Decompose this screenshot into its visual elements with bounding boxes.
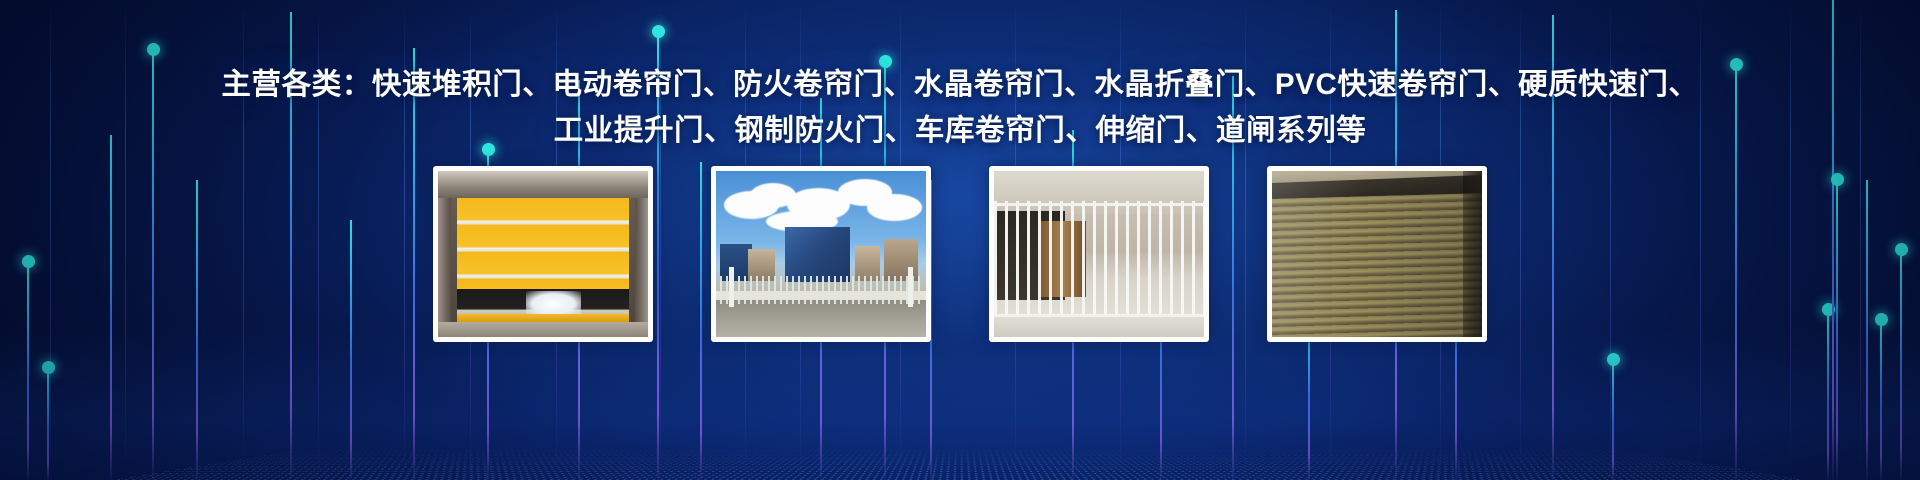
folding-grille-shape [994,201,1204,317]
building-shape [785,227,850,282]
door-lintel-shape [438,171,648,198]
stem-line [47,368,49,480]
grille-top-rail [994,203,1204,206]
stem-line [1612,360,1614,480]
floor-shape [994,314,1204,337]
dotted-mesh-front [0,447,1920,480]
product-photo-4-image [1272,171,1482,337]
door-curtain-shape [457,198,629,289]
gate-post-shape [729,267,734,307]
retractable-gate-shape [720,276,922,304]
headline-line-2: 工业提升门、钢制防火门、车库卷帘门、伸缩门、道闸系列等 [0,108,1920,154]
product-photo-1-image [438,171,648,337]
product-photo-2[interactable] [711,166,931,342]
promo-banner: 主营各类：快速堆积门、电动卷帘门、防火卷帘门、水晶卷帘门、水晶折叠门、PVC快速… [0,0,1920,480]
product-photo-2-image [716,171,926,337]
cloud-shape [867,194,922,221]
stem-line [1880,320,1882,480]
door-bottom-strip [457,314,629,322]
product-photo-row [0,166,1920,342]
grille-bottom-rail [994,314,1204,317]
product-photo-1[interactable] [433,166,653,342]
product-photo-3-image [994,171,1204,337]
mesh-glow [0,330,1920,480]
stem-dot [652,25,665,38]
shutter-sheen [1272,171,1482,337]
stem-dot [147,43,160,56]
product-photo-4[interactable] [1267,166,1487,342]
gate-post-shape [908,267,913,307]
door-floor-shape [438,322,648,337]
product-photo-3[interactable] [989,166,1209,342]
headline-line-1: 主营各类：快速堆积门、电动卷帘门、防火卷帘门、水晶卷帘门、水晶折叠门、PVC快速… [0,62,1920,108]
stem-dot [42,361,55,374]
stem-dot [1607,353,1620,366]
headline: 主营各类：快速堆积门、电动卷帘门、防火卷帘门、水晶卷帘门、水晶折叠门、PVC快速… [0,62,1920,154]
ground-shape [716,300,926,337]
